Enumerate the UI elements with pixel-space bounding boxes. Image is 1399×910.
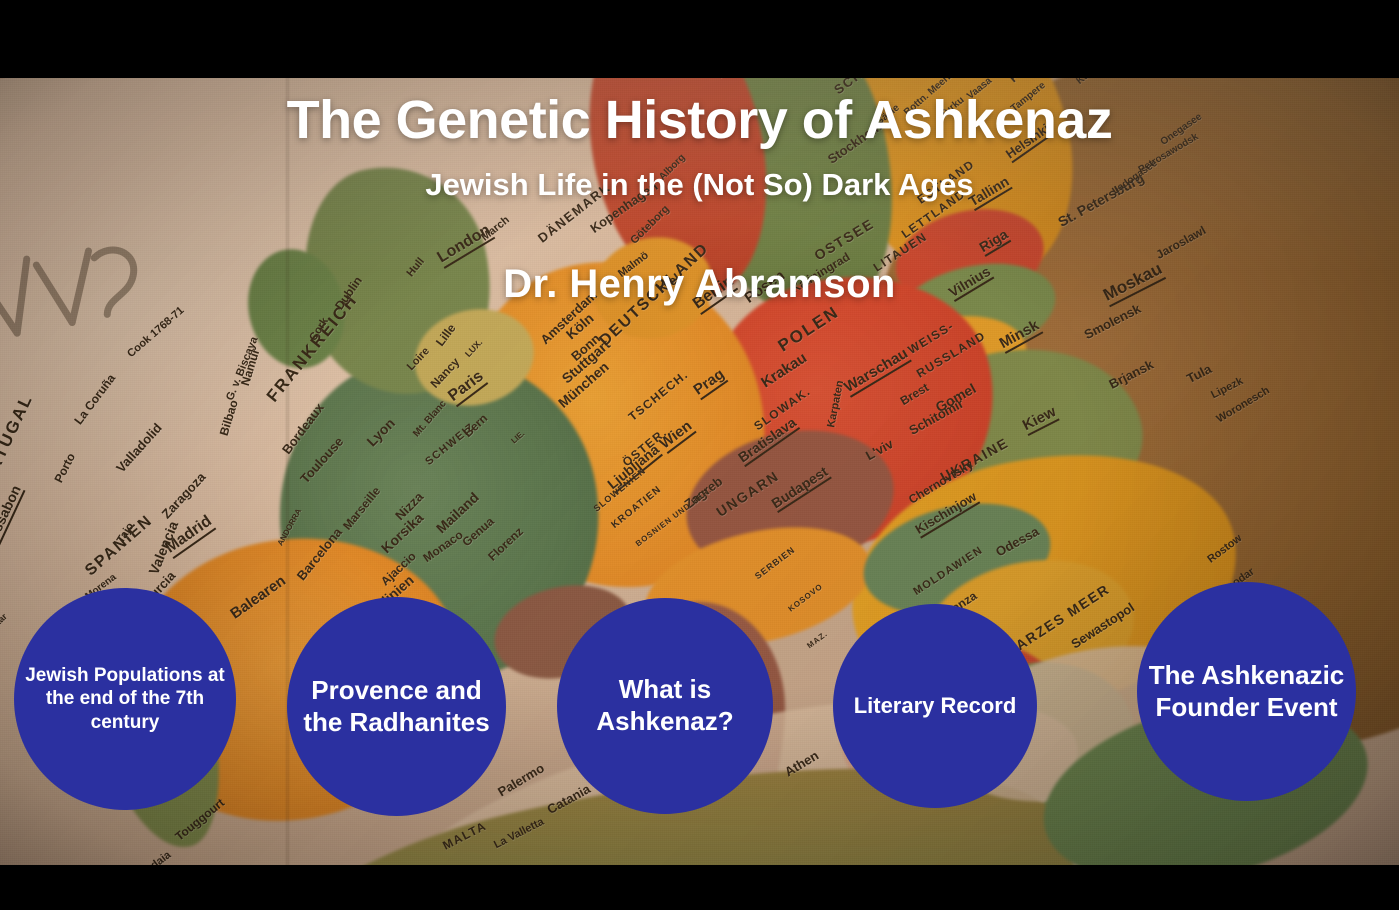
topic-circle-what-is-ashkenaz[interactable]: What is Ashkenaz? [557,598,773,814]
letterbox-bar-bottom [0,865,1399,910]
topic-circle-jewish-populations[interactable]: Jewish Populations at the end of the 7th… [14,588,236,810]
topic-circle-row: Jewish Populations at the end of the 7th… [0,575,1399,825]
topic-circle-literary-record[interactable]: Literary Record [833,604,1037,808]
topic-label: Literary Record [844,693,1027,720]
topic-label: Jewish Populations at the end of the 7th… [14,664,236,734]
topic-label: Provence and the Radhanites [287,675,506,738]
letterbox-bar-top [0,0,1399,78]
topic-circle-provence-radhanites[interactable]: Provence and the Radhanites [287,597,506,816]
presentation-slide: PORTUGALLissabonLa CoruñaPortoValladolid… [0,0,1399,910]
topic-label: The Ashkenazic Founder Event [1137,660,1356,723]
topic-label: What is Ashkenaz? [557,674,773,737]
topic-circle-ashkenazic-founder-event[interactable]: The Ashkenazic Founder Event [1137,582,1356,801]
